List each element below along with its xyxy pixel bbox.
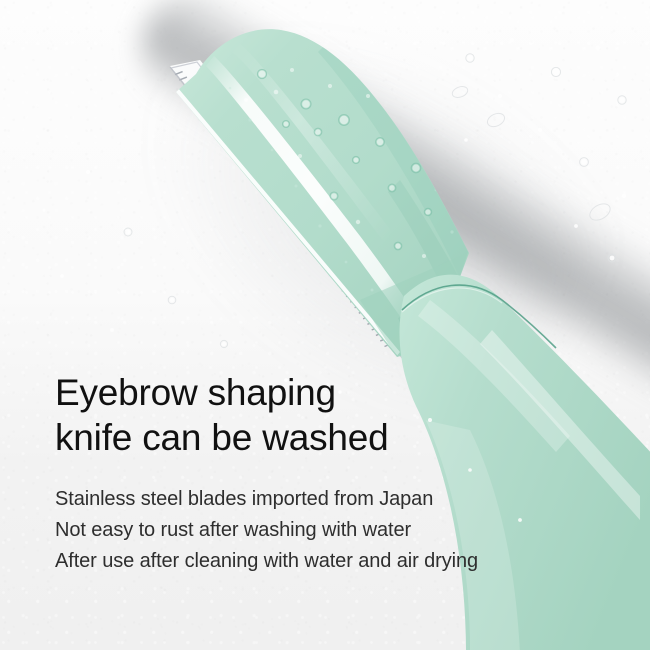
bullet-list: Stainless steel blades imported from Jap… [55,484,615,577]
headline: Eyebrow shaping knife can be washed [55,370,615,460]
product-image-canvas: Eyebrow shaping knife can be washed Stai… [0,0,650,650]
marketing-copy: Eyebrow shaping knife can be washed Stai… [55,370,615,577]
bullet-item: Not easy to rust after washing with wate… [55,515,615,546]
bullet-item: Stainless steel blades imported from Jap… [55,484,615,515]
bullet-item: After use after cleaning with water and … [55,546,615,577]
